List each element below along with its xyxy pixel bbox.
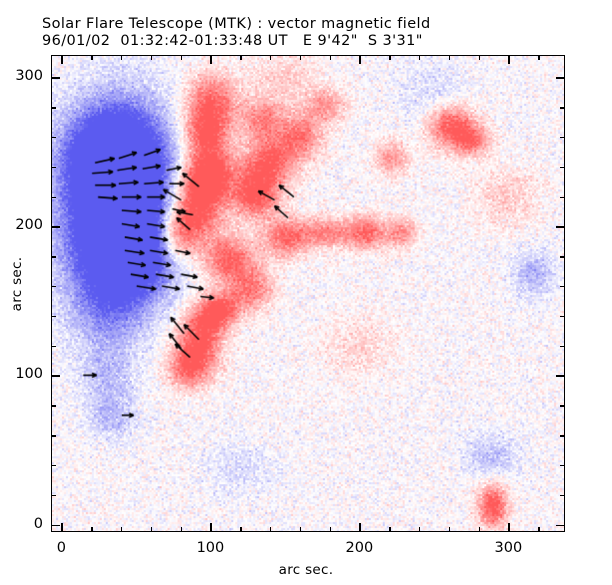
axis-tick-left: [51, 346, 56, 347]
x-axis-title: arc sec.: [0, 562, 612, 578]
axis-tick-top: [330, 55, 331, 60]
axis-tick-top: [300, 55, 301, 60]
axis-tick-bottom: [479, 527, 480, 532]
axis-tick-top: [181, 55, 182, 60]
axis-tick-bottom: [538, 527, 539, 532]
axis-tick-bottom: [449, 527, 450, 532]
vector-field-overlay: [52, 56, 564, 531]
axis-tick-left: [51, 286, 56, 287]
axis-tick-bottom: [419, 527, 420, 532]
axis-tick-top: [389, 55, 390, 60]
axis-tick-left: [51, 107, 56, 108]
axis-tick-bottom: [508, 523, 509, 532]
axis-tick-bottom: [389, 527, 390, 532]
axis-tick-right: [560, 405, 565, 406]
y-tick-label: 300: [0, 68, 43, 84]
axis-tick-left: [51, 256, 56, 257]
figure-subtitle: 96/01/02 01:32:42-01:33:48 UT E 9'42" S …: [42, 33, 582, 50]
axis-tick-left: [51, 525, 60, 526]
axis-tick-bottom: [359, 523, 360, 532]
axis-tick-left: [51, 226, 60, 227]
axis-tick-bottom: [240, 527, 241, 532]
axis-tick-top: [479, 55, 480, 60]
plot-frame: [51, 55, 565, 532]
axis-tick-top: [359, 55, 360, 64]
axis-tick-top: [538, 55, 539, 60]
axis-tick-left: [51, 316, 56, 317]
axis-tick-right: [556, 375, 565, 376]
axis-tick-right: [560, 197, 565, 198]
axis-tick-top: [449, 55, 450, 60]
axis-tick-top: [121, 55, 122, 60]
axis-tick-right: [560, 435, 565, 436]
axis-tick-top: [91, 55, 92, 60]
axis-tick-top: [419, 55, 420, 60]
x-tick-label: 0: [31, 540, 91, 556]
axis-tick-left: [51, 465, 56, 466]
axis-tick-top: [240, 55, 241, 60]
axis-tick-left: [51, 167, 56, 168]
magnetogram-figure: Solar Flare Telescope (MTK) : vector mag…: [0, 0, 612, 585]
x-tick-label: 200: [329, 540, 389, 556]
axis-tick-right: [560, 495, 565, 496]
axis-tick-bottom: [181, 527, 182, 532]
axis-tick-left: [51, 495, 56, 496]
axis-tick-right: [560, 107, 565, 108]
axis-tick-top: [61, 55, 62, 64]
y-tick-label: 100: [0, 366, 43, 382]
x-tick-label: 300: [478, 540, 538, 556]
axis-tick-right: [556, 226, 565, 227]
axis-tick-right: [560, 256, 565, 257]
axis-tick-bottom: [61, 523, 62, 532]
axis-tick-bottom: [91, 527, 92, 532]
axis-tick-left: [51, 137, 56, 138]
axis-tick-bottom: [151, 527, 152, 532]
axis-tick-left: [51, 197, 56, 198]
y-axis-title: arc sec.: [9, 239, 25, 329]
axis-tick-left: [51, 77, 60, 78]
axis-tick-right: [560, 465, 565, 466]
x-tick-label: 100: [180, 540, 240, 556]
axis-tick-right: [556, 525, 565, 526]
axis-tick-bottom: [270, 527, 271, 532]
figure-title: Solar Flare Telescope (MTK) : vector mag…: [42, 16, 582, 33]
axis-tick-top: [210, 55, 211, 64]
axis-tick-bottom: [300, 527, 301, 532]
axis-tick-top: [151, 55, 152, 60]
axis-tick-right: [560, 346, 565, 347]
axis-tick-right: [560, 316, 565, 317]
axis-tick-top: [270, 55, 271, 60]
axis-tick-right: [560, 167, 565, 168]
figure-title-block: Solar Flare Telescope (MTK) : vector mag…: [42, 16, 582, 50]
axis-tick-right: [560, 286, 565, 287]
axis-tick-right: [556, 77, 565, 78]
axis-tick-bottom: [210, 523, 211, 532]
axis-tick-left: [51, 375, 60, 376]
axis-tick-right: [560, 137, 565, 138]
axis-tick-left: [51, 405, 56, 406]
y-tick-label: 0: [0, 516, 43, 532]
axis-tick-bottom: [121, 527, 122, 532]
axis-tick-bottom: [330, 527, 331, 532]
axis-tick-left: [51, 435, 56, 436]
y-tick-label: 200: [0, 217, 43, 233]
axis-tick-top: [508, 55, 509, 64]
